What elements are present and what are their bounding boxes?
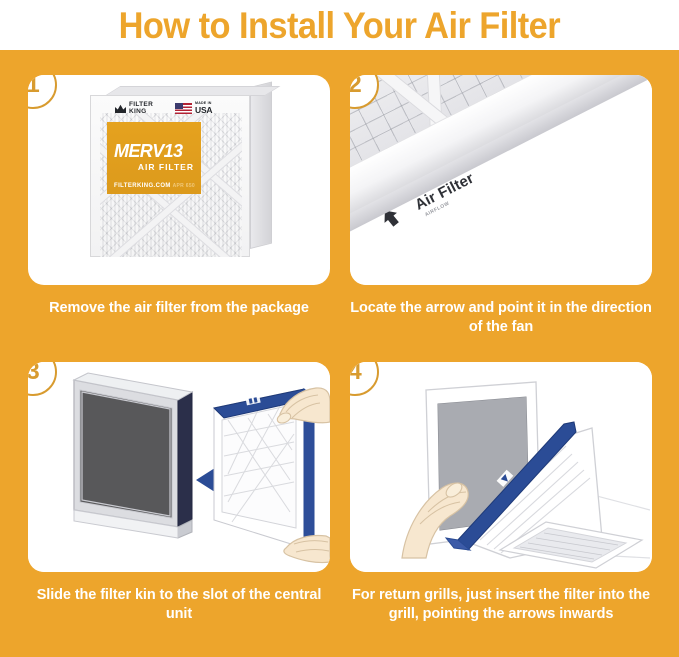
slide-filter-illustration <box>28 362 330 572</box>
apr-rating: APR 650 <box>173 183 195 189</box>
step-1-card: FILTER KING MADE IN USA <box>28 75 330 285</box>
step-3: 3 Slide the filter kin to the slot of th… <box>28 362 350 624</box>
filter-product-label: MERV13 AIR FILTER FILTERKING.COM APR 650 <box>107 122 201 194</box>
merv13-filter-photo: FILTER KING MADE IN USA <box>90 87 272 265</box>
step-2: Air Filter AIRFLOW 2 Locate the arrow an… <box>350 75 672 337</box>
brand-website: FILTERKING.COM <box>114 183 171 189</box>
step-1-caption: Remove the air filter from the package <box>28 299 330 318</box>
header-band: How to Install Your Air Filter <box>0 0 679 50</box>
infographic-root: How to Install Your Air Filter <box>0 0 679 657</box>
usa-flag-icon <box>175 103 192 114</box>
step-1: FILTER KING MADE IN USA <box>28 75 350 318</box>
step-2-artwork: Air Filter AIRFLOW <box>350 75 652 285</box>
made-in-usa-text: MADE IN USA <box>195 102 212 114</box>
step-2-card: Air Filter AIRFLOW 2 <box>350 75 652 285</box>
country-label: USA <box>195 106 212 115</box>
filter-side-face <box>250 82 272 249</box>
product-type: AIR FILTER <box>138 162 194 172</box>
step-3-card: 3 <box>28 362 330 572</box>
crown-icon <box>115 104 126 113</box>
steps-grid: FILTER KING MADE IN USA <box>0 50 679 657</box>
step-4-card: 4 <box>350 362 652 572</box>
made-in-usa-mark: MADE IN USA <box>175 102 212 114</box>
central-unit-slot <box>74 373 192 538</box>
filter-corner-photo: Air Filter AIRFLOW <box>350 75 652 285</box>
brand-name: FILTER KING <box>129 102 153 116</box>
step-2-caption: Locate the arrow and point it in the dir… <box>350 299 652 337</box>
step-4: 4 For return grills, just insert the fil… <box>350 362 672 624</box>
step-3-artwork <box>28 362 330 572</box>
step-4-caption: For return grills, just insert the filte… <box>350 586 652 624</box>
step-4-artwork <box>350 362 652 572</box>
filter-front-frame: FILTER KING MADE IN USA <box>90 95 250 257</box>
filter-king-logo: FILTER KING <box>115 102 153 116</box>
return-grill-illustration <box>350 362 652 572</box>
filter-corner-frame: Air Filter AIRFLOW <box>350 75 652 285</box>
page-title: How to Install Your Air Filter <box>119 7 560 44</box>
step-3-caption: Slide the filter kin to the slot of the … <box>28 586 330 624</box>
merv-rating: MERV13 <box>114 141 182 162</box>
step-1-artwork: FILTER KING MADE IN USA <box>28 75 330 285</box>
brand-line-2: KING <box>129 108 146 115</box>
